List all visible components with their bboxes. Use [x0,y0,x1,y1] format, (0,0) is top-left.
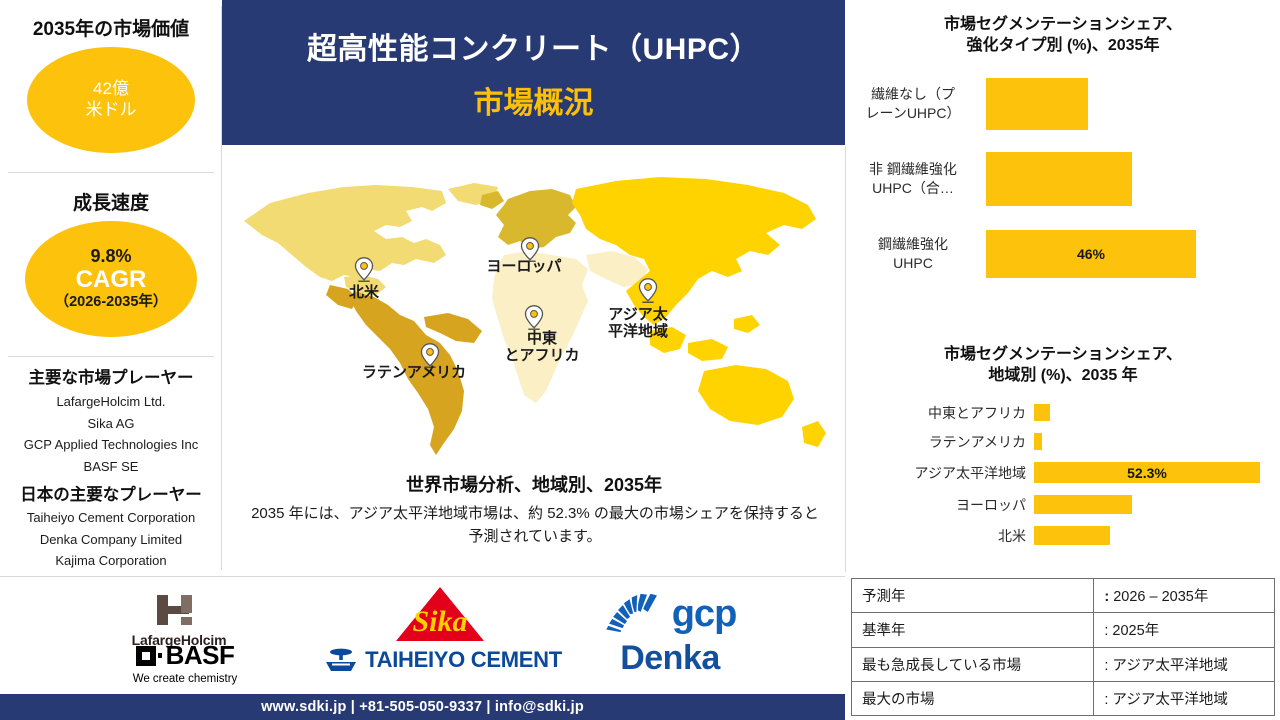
japan-players-title: 日本の主要なプレーヤー [0,481,222,505]
table-value-text: 2025年 [1112,623,1159,639]
key-players-list: LafargeHolcim Ltd. Sika AG GCP Applied T… [0,391,222,477]
table-cell-key: 最大の市場 [852,681,1094,715]
map-label-north-america: 北米 [328,285,400,302]
chart1-title: 市場セグメンテーションシェア、 強化タイプ別 (%)、2035年 [846,14,1280,56]
list-item: BASF SE [0,456,222,478]
table-value-text: 2026 – 2035年 [1113,589,1208,605]
chart1-track-1 [986,152,1280,206]
basf-mark-icon [136,644,162,668]
right-charts-panel: 市場セグメンテーションシェア、 強化タイプ別 (%)、2035年 繊維なし（プ … [846,0,1280,576]
page-subtitle: 市場概況 [474,78,594,122]
gcp-label: gcp [672,593,737,636]
chart2-track-2: 52.3% [1034,462,1280,483]
chart1-row-1: 非 鋼繊維強化 UHPC（合… [846,152,1280,206]
infographic-root: 2035年の市場価値 42億 米ドル 成長速度 9.8% CAGR （2026-… [0,0,1280,720]
chart1-bars: 繊維なし（プ レーンUHPC） 非 鋼繊維強化 UHPC（合… 鋼繊維強化 UH… [846,78,1280,278]
chart1-value-2: 46% [1077,246,1105,262]
market-value-amount: 42億 [93,79,129,100]
chart2-title: 市場セグメンテーションシェア、 地域別 (%)、2035 年 [846,344,1280,386]
growth-rate-block: 成長速度 9.8% CAGR （2026-2035年） [0,188,222,337]
world-map-section: 北米 ヨーロッパ アジア太 平洋地域 中東 とアフリカ ラテンアメリカ 世界市場… [224,147,844,575]
footer-text: www.sdki.jp | +81-505-050-9337 | info@sd… [261,699,584,715]
list-item: Sika AG [0,413,222,435]
table-row: 最大の市場 : アジア太平洋地域 [852,681,1275,715]
chart2-bar-1 [1034,433,1042,450]
logo-sika: Sika [385,585,495,648]
chart2-bar-0 [1034,404,1050,421]
chart2-label-1: ラテンアメリカ [846,432,1034,452]
divider-2 [8,356,214,357]
logos-strip: LafargeHolcim BASF We create chemistry S… [0,577,845,692]
table-cell-value: : 2025年 [1094,613,1275,647]
map-caption-title: 世界市場分析、地域別、2035年 [224,471,844,497]
logo-denka: Denka [580,639,760,678]
market-value-title: 2035年の市場価値 [0,14,222,41]
map-pin-middle-east-africa-icon [524,305,544,331]
lafargeholcim-mark-icon [151,593,207,627]
logo-gcp: gcp [580,591,760,637]
basf-tagline: We create chemistry [120,673,250,685]
chart2-label-2: アジア太平洋地域 [846,463,1034,483]
chart2-row-1: ラテンアメリカ [846,433,1280,450]
divider-1 [8,172,214,173]
footer-contact-bar: www.sdki.jp | +81-505-050-9337 | info@sd… [0,694,845,720]
chart2-track-4 [1034,526,1280,545]
taiheiyo-mark-icon [324,647,358,673]
key-players-title: 主要な市場プレーヤー [0,364,222,388]
list-item: LafargeHolcim Ltd. [0,391,222,413]
table-cell-value: : アジア太平洋地域 [1094,681,1275,715]
cagr-rate: 9.8% [90,247,131,267]
taiheiyo-label: TAIHEIYO CEMENT [365,647,562,673]
chart2-value-2: 52.3% [1127,465,1167,481]
basf-label: BASF [166,640,235,671]
left-sidebar: 2035年の市場価値 42億 米ドル 成長速度 9.8% CAGR （2026-… [0,0,222,576]
segmentation-chart-by-region: 市場セグメンテーションシェア、 地域別 (%)、2035 年 [846,344,1280,386]
chart1-track-0 [986,78,1280,130]
summary-table: 予測年 : 2026 – 2035年 基準年 : 2025年 最も急成長している… [851,578,1275,716]
table-row: 基準年 : 2025年 [852,613,1275,647]
title-banner: 超高性能コンクリート（UHPC） 市場概況 [222,0,845,145]
cagr-period: （2026-2035年） [55,294,168,311]
chart2-bar-4 [1034,526,1110,545]
chart2-track-3 [1034,495,1280,514]
chart1-row-2: 鋼繊維強化 UHPC 46% [846,230,1280,278]
page-title: 超高性能コンクリート（UHPC） [307,24,760,68]
chart1-row-0: 繊維なし（プ レーンUHPC） [846,78,1280,130]
chart1-label-1: 非 鋼繊維強化 UHPC（合… [846,160,986,198]
market-value-ellipse: 42億 米ドル [27,47,195,153]
map-label-latin-america: ラテンアメリカ [330,365,498,382]
chart2-track-1 [1034,433,1280,450]
chart2-title-line1: 市場セグメンテーションシェア、 [846,344,1280,365]
table-cell-key: 予測年 [852,579,1094,613]
map-pin-north-america-icon [354,257,374,283]
chart2-label-0: 中東とアフリカ [846,403,1034,423]
chart1-label-2: 鋼繊維強化 UHPC [846,235,986,273]
chart2-row-3: ヨーロッパ [846,495,1280,514]
chart2-label-3: ヨーロッパ [846,495,1034,515]
chart2-bar-2: 52.3% [1034,462,1260,483]
growth-rate-title: 成長速度 [0,188,222,215]
list-item: Denka Company Limited [0,529,222,551]
chart1-track-2: 46% [986,230,1280,278]
chart2-row-4: 北米 [846,526,1280,545]
chart1-title-line2: 強化タイプ別 (%)、2035年 [846,35,1280,56]
chart2-label-4: 北米 [846,526,1034,546]
chart1-label-0: 繊維なし（プ レーンUHPC） [846,85,986,123]
segmentation-chart-by-type: 市場セグメンテーションシェア、 強化タイプ別 (%)、2035年 [846,14,1280,56]
chart1-title-line1: 市場セグメンテーションシェア、 [846,14,1280,35]
chart1-bar-1 [986,152,1132,206]
gcp-mark-icon [604,591,666,637]
table-value-text: アジア太平洋地域 [1112,658,1227,674]
growth-rate-ellipse: 9.8% CAGR （2026-2035年） [25,221,197,337]
chart1-bar-2: 46% [986,230,1196,278]
chart2-bars: 中東とアフリカ ラテンアメリカ アジア太平洋地域 [846,404,1280,545]
market-value-block: 2035年の市場価値 42億 米ドル [0,14,222,153]
japan-players-block: 日本の主要なプレーヤー Taiheiyo Cement Corporation … [0,481,222,572]
chart2-track-0 [1034,404,1280,421]
table-cell-value: : アジア太平洋地域 [1094,647,1275,681]
market-value-currency: 米ドル [86,100,137,121]
map-label-middle-east-africa: 中東 とアフリカ [482,331,602,365]
table-cell-key: 基準年 [852,613,1094,647]
table-row: 最も急成長している市場 : アジア太平洋地域 [852,647,1275,681]
map-label-europe: ヨーロッパ [462,259,586,276]
map-caption-body: 2035 年には、アジア太平洋地域市場は、約 52.3% の最大の市場シェアを保… [246,503,824,548]
chart2-row-0: 中東とアフリカ [846,404,1280,421]
sika-mark-icon: Sika [394,585,486,643]
list-item: GCP Applied Technologies Inc [0,434,222,456]
table-cell-value: : 2026 – 2035年 [1094,579,1275,613]
list-item: Taiheiyo Cement Corporation [0,507,222,529]
denka-label: Denka [620,639,720,677]
table-value-text: アジア太平洋地域 [1112,692,1227,708]
japan-players-list: Taiheiyo Cement Corporation Denka Compan… [0,507,222,572]
sika-wordmark: Sika [412,605,467,638]
logo-basf: BASF We create chemistry [120,640,250,685]
table-cell-key: 最も急成長している市場 [852,647,1094,681]
map-pin-asia-pacific-icon [638,278,658,304]
list-item: Kajima Corporation [0,550,222,572]
chart1-bar-0 [986,78,1088,130]
logo-taiheiyo-cement: TAIHEIYO CEMENT [318,647,568,673]
chart2-row-2: アジア太平洋地域 52.3% [846,462,1280,483]
chart2-title-line2: 地域別 (%)、2035 年 [846,365,1280,386]
chart2-bar-3 [1034,495,1132,514]
table-row: 予測年 : 2026 – 2035年 [852,579,1275,613]
key-players-block: 主要な市場プレーヤー LafargeHolcim Ltd. Sika AG GC… [0,364,222,477]
cagr-label: CAGR [76,267,147,294]
